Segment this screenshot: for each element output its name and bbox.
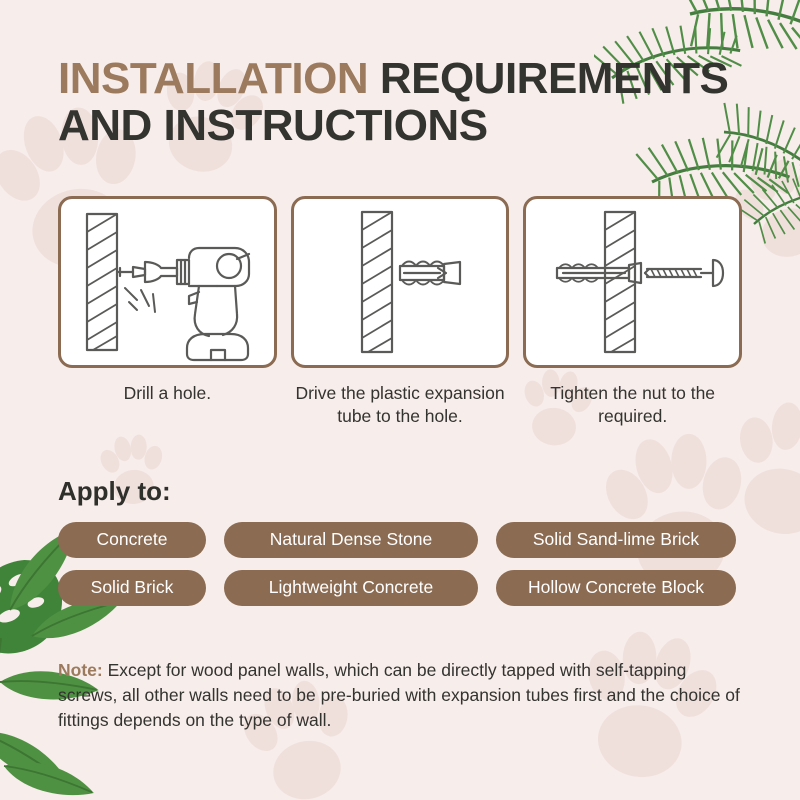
- step-2-illustration-card: [291, 196, 510, 368]
- step-3-illustration-card: [523, 196, 742, 368]
- material-pill-lightweight-concrete[interactable]: Lightweight Concrete: [224, 570, 478, 606]
- poster-canvas: INSTALLATION REQUIREMENTS AND INSTRUCTIO…: [0, 0, 800, 800]
- step-2: Drive the plastic expansion tube to the …: [291, 196, 510, 428]
- note-body: Except for wood panel walls, which can b…: [58, 660, 740, 730]
- step-2-caption: Drive the plastic expansion tube to the …: [291, 382, 510, 428]
- material-pill-list: Concrete Natural Dense Stone Solid Sand-…: [58, 522, 748, 606]
- material-pill-natural-dense-stone[interactable]: Natural Dense Stone: [224, 522, 478, 558]
- material-pill-hollow-concrete-block[interactable]: Hollow Concrete Block: [496, 570, 736, 606]
- title-accent-word: INSTALLATION: [58, 54, 368, 103]
- step-3-caption: Tighten the nut to the required.: [523, 382, 742, 428]
- drill-into-wall-icon: [67, 202, 267, 362]
- plastic-expansion-tube-icon: [300, 202, 500, 362]
- screw-into-anchor-icon: [533, 202, 733, 362]
- apply-to-heading: Apply to:: [58, 476, 171, 507]
- note-label: Note:: [58, 660, 103, 680]
- installation-steps: Drill a hole.: [58, 196, 742, 428]
- note-block: Note: Except for wood panel walls, which…: [58, 658, 748, 733]
- material-pill-solid-brick[interactable]: Solid Brick: [58, 570, 206, 606]
- step-1-illustration-card: [58, 196, 277, 368]
- step-1-caption: Drill a hole.: [58, 382, 277, 405]
- step-1: Drill a hole.: [58, 196, 277, 428]
- material-pill-concrete[interactable]: Concrete: [58, 522, 206, 558]
- title-line-2: AND INSTRUCTIONS: [58, 103, 758, 150]
- step-3: Tighten the nut to the required.: [523, 196, 742, 428]
- page-title: INSTALLATION REQUIREMENTS AND INSTRUCTIO…: [58, 56, 758, 149]
- title-line-1: INSTALLATION REQUIREMENTS: [58, 56, 758, 103]
- material-pill-solid-sand-lime-brick[interactable]: Solid Sand-lime Brick: [496, 522, 736, 558]
- title-line-1-rest: REQUIREMENTS: [368, 54, 728, 103]
